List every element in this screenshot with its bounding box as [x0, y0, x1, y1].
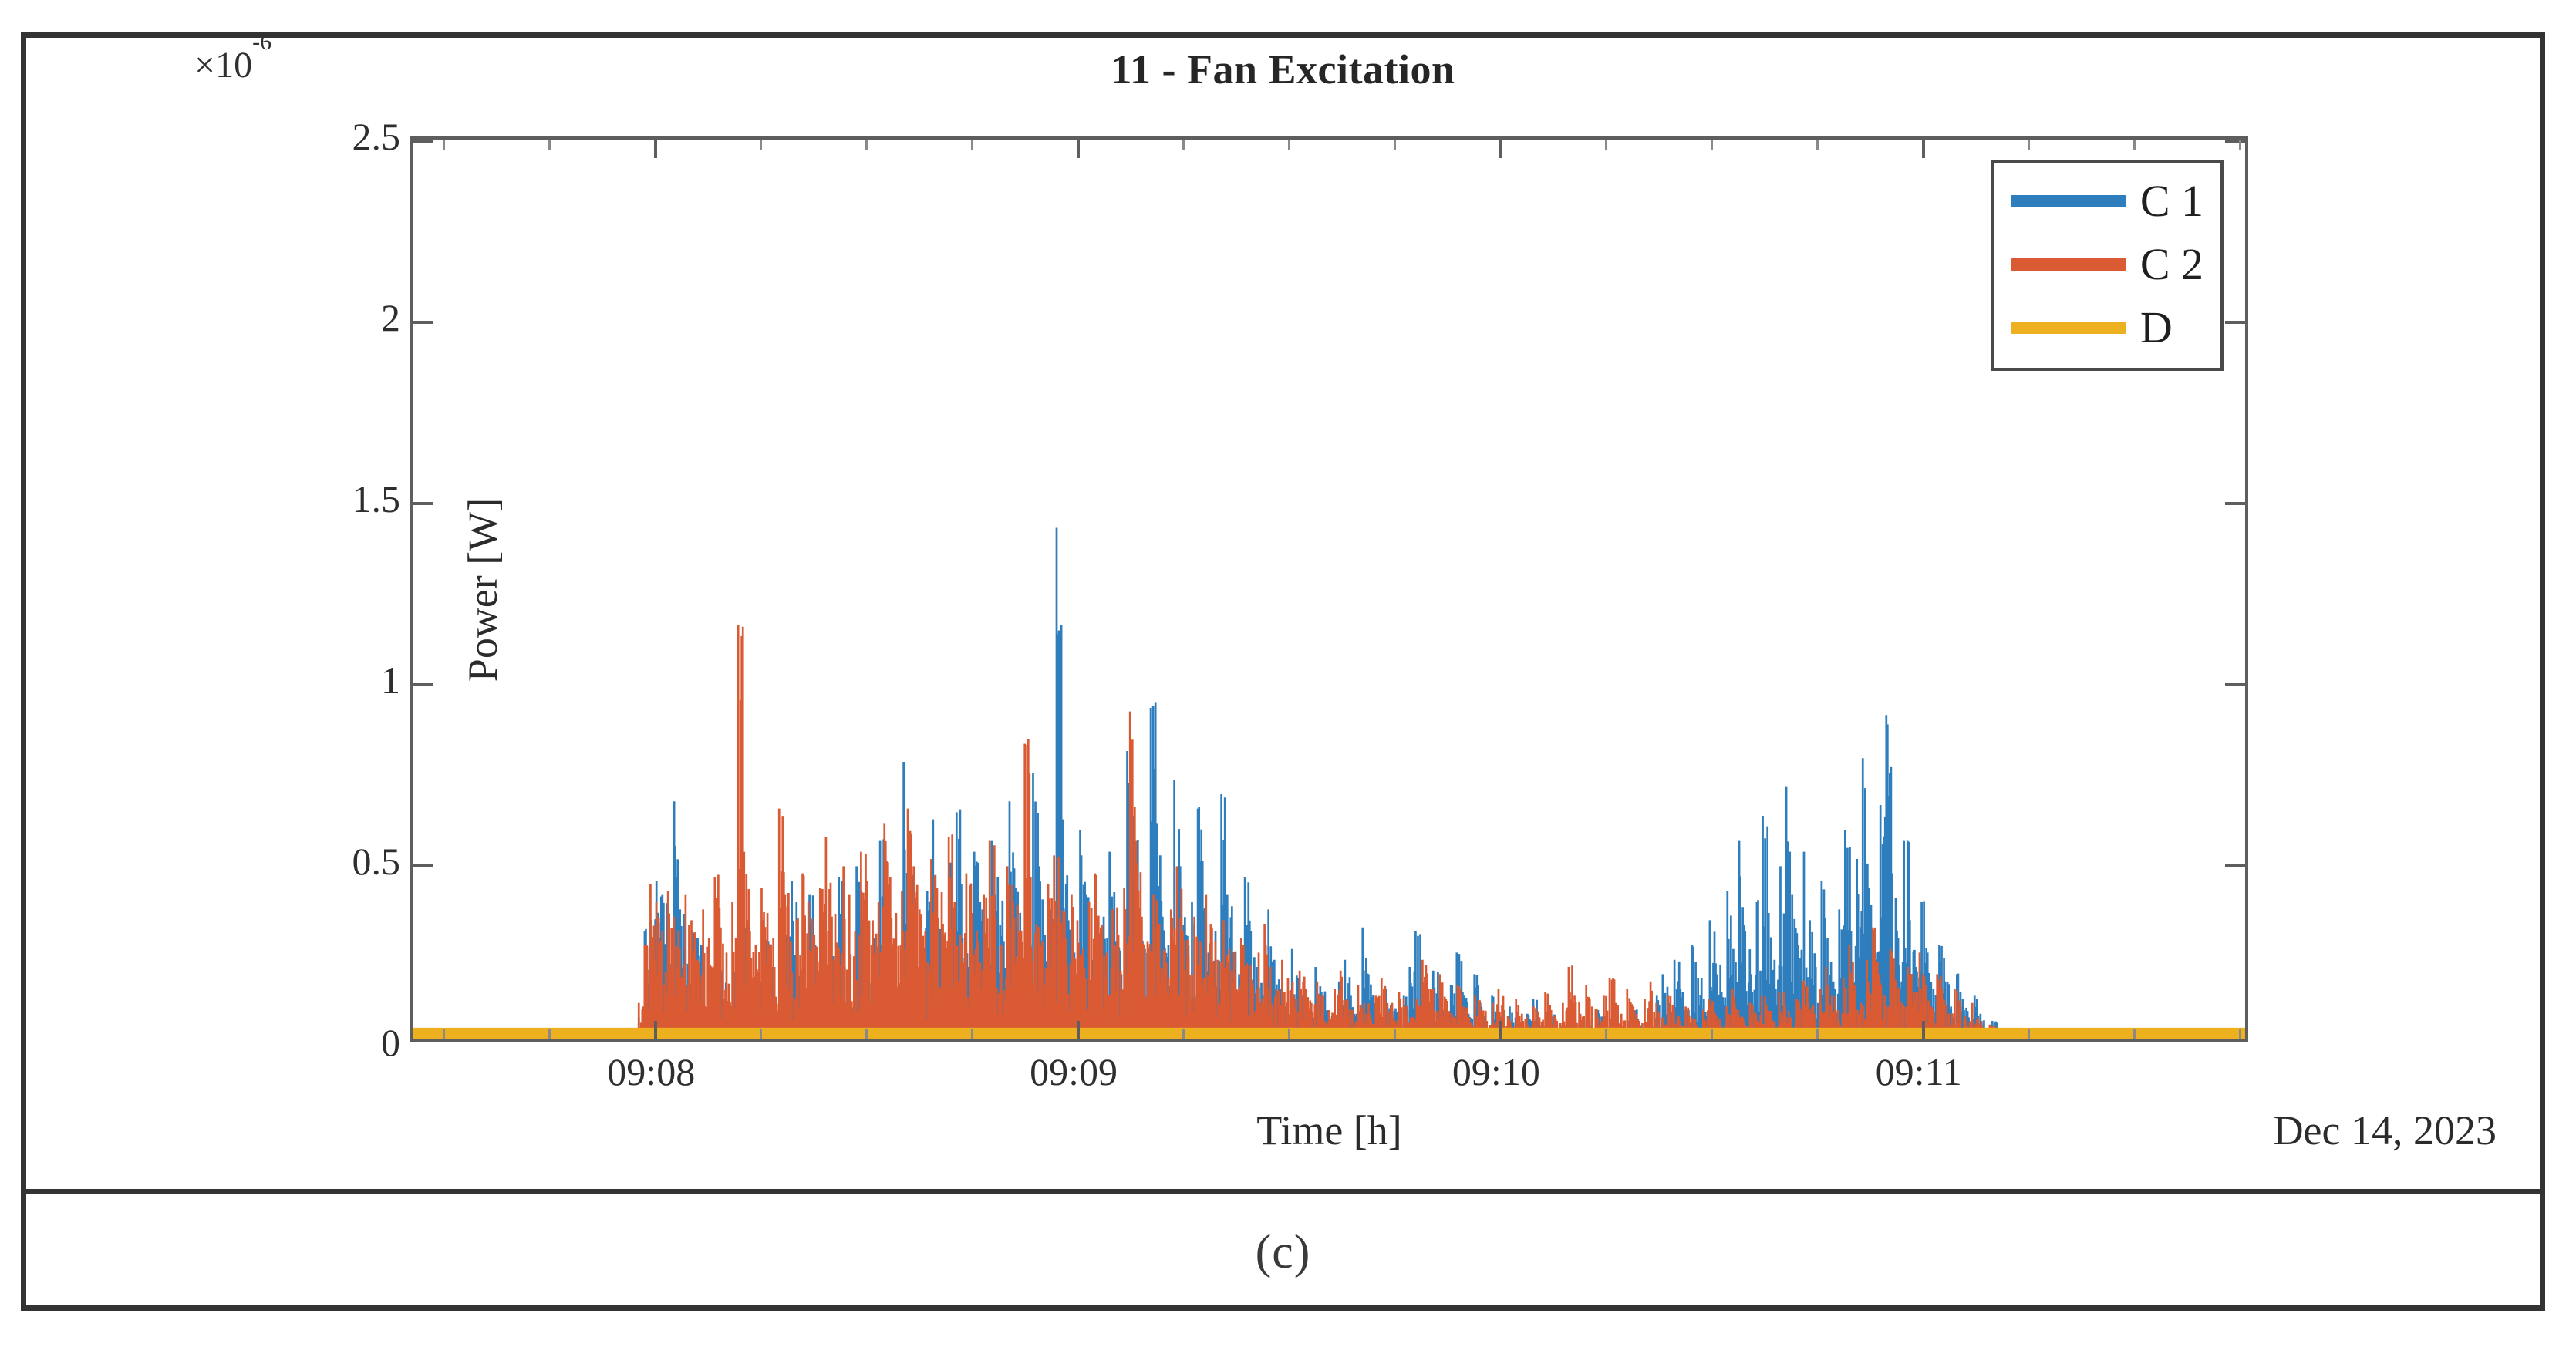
- legend-label: C 1: [2140, 179, 2203, 224]
- x-axis-minor-tick: [2239, 1029, 2241, 1039]
- x-axis-tick-label: 09:11: [1876, 1049, 1962, 1094]
- x-axis-tick-label: 09:08: [607, 1049, 695, 1094]
- x-axis-date-label: Dec 14, 2023: [2274, 1106, 2497, 1154]
- x-axis-tick-labels: 09:0809:0909:1009:11: [410, 1049, 2248, 1105]
- x-axis-minor-tick: [2133, 140, 2136, 150]
- x-axis-tick: [1077, 1021, 1080, 1039]
- page-title: 11 - Fan Excitation: [26, 45, 2540, 93]
- x-axis-minor-tick: [2239, 140, 2241, 150]
- plot-axes: Power [W] C 1C 2D: [410, 136, 2248, 1042]
- y-axis-tick: [413, 140, 433, 143]
- x-axis-title: Time [h]: [410, 1106, 2248, 1154]
- y-axis-tick: [2225, 140, 2245, 143]
- y-axis-title: Power [W]: [459, 320, 507, 860]
- x-axis-tick: [1922, 1021, 1925, 1039]
- y-axis-exponent-power: -6: [252, 38, 271, 55]
- plot-data-layer: [413, 140, 2245, 1039]
- x-axis-minor-tick: [760, 1029, 762, 1039]
- y-axis-tick: [413, 683, 433, 686]
- y-axis-tick-label: 0.5: [352, 839, 401, 884]
- legend-label: C 2: [2140, 242, 2203, 287]
- x-axis-tick: [1922, 140, 1925, 158]
- x-axis-minor-tick: [443, 140, 445, 150]
- x-axis-minor-tick: [865, 140, 868, 150]
- x-axis-minor-tick: [1288, 140, 1290, 150]
- y-axis-tick: [2225, 683, 2245, 686]
- x-axis-minor-tick: [1288, 1029, 1290, 1039]
- y-axis-tick-label: 0: [381, 1020, 400, 1065]
- x-axis-minor-tick: [2028, 140, 2030, 150]
- x-axis-tick: [654, 140, 657, 158]
- y-axis-exponent-label: ×10-6: [194, 44, 271, 86]
- x-axis-tick-label: 09:09: [1030, 1049, 1118, 1094]
- y-axis-tick-label: 2.5: [352, 114, 401, 159]
- x-axis-minor-tick: [1182, 140, 1185, 150]
- x-axis-minor-tick: [1394, 1029, 1396, 1039]
- x-axis-minor-tick: [865, 1029, 868, 1039]
- x-axis-minor-tick: [971, 140, 973, 150]
- x-axis-tick: [654, 1021, 657, 1039]
- x-axis-minor-tick: [1711, 140, 1713, 150]
- legend-color-swatch: [2011, 322, 2126, 334]
- x-axis-minor-tick: [2133, 1029, 2136, 1039]
- x-axis-minor-tick: [971, 1029, 973, 1039]
- x-axis-minor-tick: [443, 1029, 445, 1039]
- figure-frame: 11 - Fan Excitation ×10-6 00.511.522.5 P…: [21, 32, 2545, 1311]
- y-axis-tick-label: 2: [381, 295, 400, 340]
- x-axis-minor-tick: [2028, 1029, 2030, 1039]
- x-axis-tick: [1077, 140, 1080, 158]
- y-axis-tick: [413, 864, 433, 867]
- y-axis-tick: [2225, 321, 2245, 324]
- y-axis-tick: [413, 321, 433, 324]
- x-axis-minor-tick: [1605, 140, 1607, 150]
- y-axis-tick-labels: 00.511.522.5: [225, 136, 403, 1042]
- x-axis-tick-label: 09:10: [1452, 1049, 1540, 1094]
- legend: C 1C 2D: [1991, 160, 2224, 371]
- x-axis-minor-tick: [548, 140, 551, 150]
- x-axis-minor-tick: [1394, 140, 1396, 150]
- y-axis-tick: [2225, 864, 2245, 867]
- series-d-baseline: [413, 1028, 2245, 1039]
- series-canvas: [413, 140, 2245, 1039]
- x-axis-minor-tick: [1605, 1029, 1607, 1039]
- x-axis-minor-tick: [1816, 1029, 1819, 1039]
- x-axis-minor-tick: [1182, 1029, 1185, 1039]
- x-axis-tick: [1499, 140, 1502, 158]
- legend-item[interactable]: C 2: [2011, 238, 2203, 291]
- legend-color-swatch: [2011, 195, 2126, 207]
- x-axis-minor-tick: [548, 1029, 551, 1039]
- x-axis-minor-tick: [1711, 1029, 1713, 1039]
- y-axis-exponent-base: ×10: [194, 45, 252, 86]
- y-axis-tick-label: 1: [381, 658, 400, 702]
- y-axis-tick: [2225, 502, 2245, 505]
- x-axis-minor-tick: [760, 140, 762, 150]
- y-axis-tick-label: 1.5: [352, 477, 401, 521]
- legend-item[interactable]: D: [2011, 301, 2203, 354]
- chart-area: 11 - Fan Excitation ×10-6 00.511.522.5 P…: [26, 38, 2540, 1194]
- figure-caption-cell: (c): [26, 1194, 2540, 1311]
- x-axis-tick: [1499, 1021, 1502, 1039]
- legend-label: D: [2140, 305, 2173, 350]
- figure-caption: (c): [1256, 1225, 1311, 1280]
- legend-color-swatch: [2011, 258, 2126, 271]
- legend-item[interactable]: C 1: [2011, 175, 2203, 227]
- x-axis-minor-tick: [1816, 140, 1819, 150]
- y-axis-tick: [413, 502, 433, 505]
